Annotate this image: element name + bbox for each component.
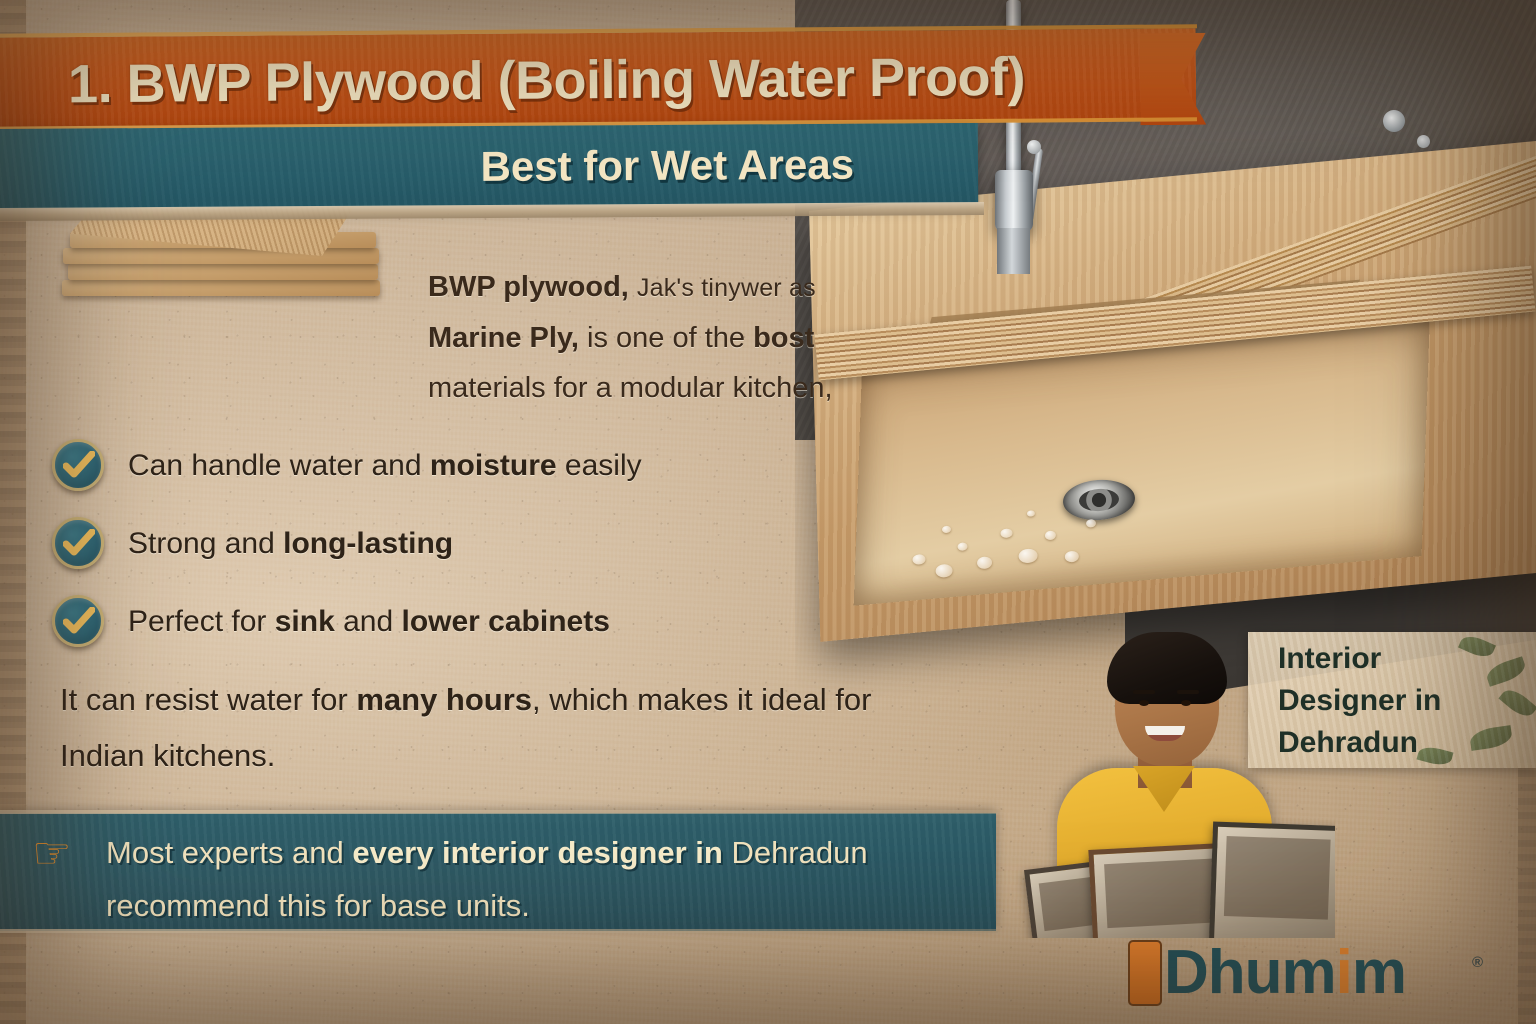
designer-label-line3: Dehradun — [1278, 722, 1528, 764]
faucet-body — [995, 170, 1033, 232]
intro-lead: BWP plywood, — [428, 271, 629, 303]
counter-bolt-small-icon — [1417, 135, 1430, 148]
logo-word-part1: Dhum — [1164, 938, 1336, 1007]
bullet-pre: Strong and — [128, 527, 283, 560]
designer-label-line2: Designer in — [1278, 680, 1528, 722]
logo-word-i: i — [1336, 938, 1352, 1007]
intro-bost: bost — [753, 322, 814, 354]
check-icon — [52, 439, 104, 491]
bullet-pre: Perfect for — [128, 605, 275, 638]
designer-eye-right — [1181, 700, 1191, 706]
logo-orange-bar-icon — [1128, 940, 1162, 1006]
faucet-base — [997, 228, 1030, 274]
list-item: Strong and long-lasting — [52, 515, 842, 585]
intro-garbled-text: Jak's tinywer as — [637, 274, 816, 302]
benefit-list: Can handle water and moisture easily Str… — [52, 437, 842, 671]
bullet-post: easily — [557, 449, 642, 482]
bullet-strong: moisture — [430, 449, 557, 482]
bullet-text: Perfect for sink and lower cabinets — [128, 593, 610, 651]
bullet-strong: long-lasting — [283, 527, 453, 560]
designer-eyebrow-left — [1133, 690, 1155, 694]
infographic-canvas: 1. BWP Plywood (Boiling Water Proof) Bes… — [0, 0, 1536, 1024]
callout-strong: every interior designer in — [352, 835, 722, 870]
designer-hair — [1107, 632, 1227, 704]
logo-word-part2: m — [1352, 938, 1406, 1007]
closing-strong: many hours — [356, 682, 532, 717]
check-glyph — [63, 607, 95, 637]
intro-paragraph: BWP plywood, Jak's tinywer as Marine Ply… — [428, 262, 898, 413]
callout-text: Most experts and every interior designer… — [106, 826, 986, 932]
portfolio-frame — [1209, 822, 1335, 938]
bullet-strong: sink — [275, 605, 335, 638]
check-glyph — [63, 529, 95, 559]
list-item: Perfect for sink and lower cabinets — [52, 593, 842, 663]
pointing-hand-icon: ☞ — [32, 828, 94, 880]
closing-pre: It can resist water for — [60, 682, 356, 717]
bullet-pre: Can handle water and — [128, 449, 430, 482]
registered-trademark-icon: ® — [1472, 954, 1483, 971]
list-item: Can handle water and moisture easily — [52, 437, 842, 507]
callout-pre: Most experts and — [106, 835, 352, 870]
bullet-strong2: lower cabinets — [401, 605, 609, 638]
intro-marine-ply: Marine Ply, — [428, 322, 579, 354]
logo-wordmark: Dhumim — [1164, 934, 1406, 1012]
subtitle-text: Best for Wet Areas — [0, 131, 940, 203]
check-glyph — [63, 451, 95, 481]
intro-line2-rest: is one of the — [587, 322, 745, 354]
designer-eye-left — [1139, 700, 1149, 706]
designer-eyebrow-right — [1177, 690, 1199, 694]
bullet-mid: and — [335, 605, 402, 638]
faucet-knob-icon[interactable] — [1027, 140, 1041, 154]
bullet-text: Strong and long-lasting — [128, 515, 453, 573]
check-icon — [52, 595, 104, 647]
bullet-text: Can handle water and moisture easily — [128, 437, 642, 495]
designer-label-line1: Interior — [1278, 638, 1528, 680]
callout-top-rule — [0, 810, 998, 814]
page-title: 1. BWP Plywood (Boiling Water Proof) — [68, 38, 1169, 123]
brand-logo[interactable]: Dhumim ® — [1120, 932, 1520, 1016]
intro-line3: materials for a modular kitchen, — [428, 372, 833, 404]
check-icon — [52, 517, 104, 569]
closing-paragraph: It can resist water for many hours, whic… — [60, 672, 890, 784]
designer-label-text: Interior Designer in Dehradun — [1278, 638, 1528, 764]
